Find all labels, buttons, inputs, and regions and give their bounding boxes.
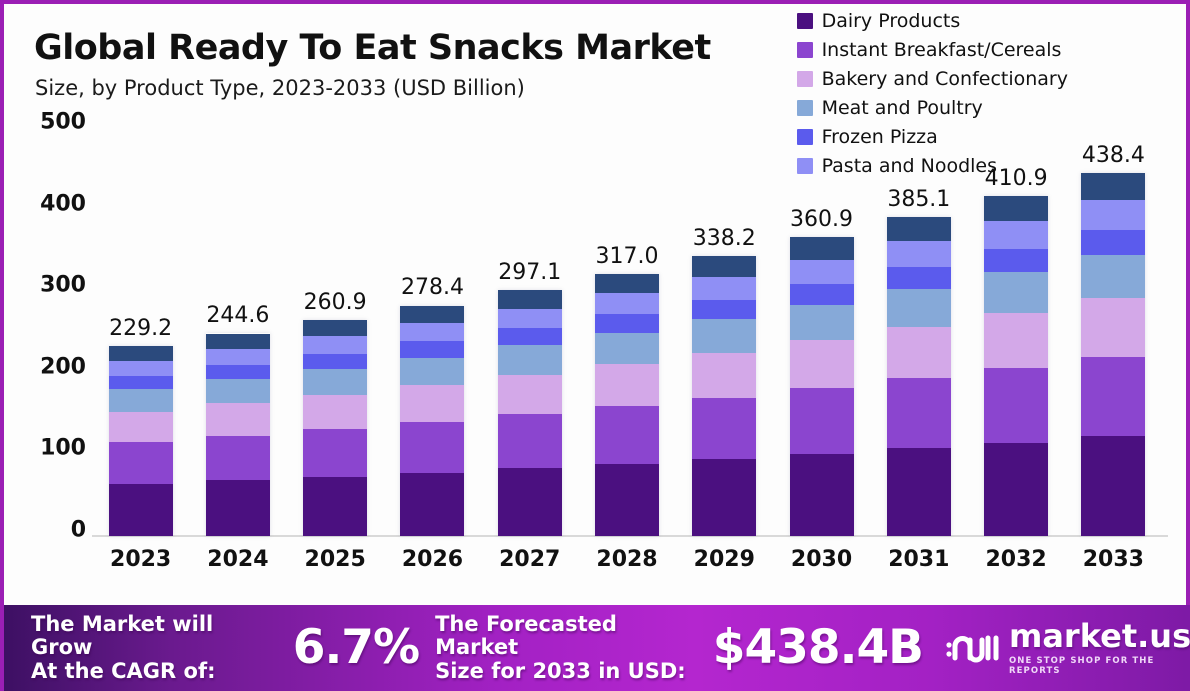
bar-group[interactable] (400, 122, 464, 536)
bar-value-label: 260.9 (304, 290, 367, 315)
bar-value-label: 278.4 (401, 275, 464, 300)
bar-segment[interactable] (400, 306, 464, 323)
bar-segment[interactable] (400, 385, 464, 422)
x-axis-tick: 2023 (110, 547, 171, 572)
bar-segment[interactable] (1081, 436, 1145, 536)
bar-segment[interactable] (303, 336, 367, 353)
bar-segment[interactable] (595, 274, 659, 294)
cagr-label-line1: The Market will Grow (31, 613, 267, 660)
bar-segment[interactable] (887, 448, 951, 536)
bar-value-label: 438.4 (1082, 143, 1145, 168)
bar-segment[interactable] (109, 346, 173, 360)
bar-segment[interactable] (692, 277, 756, 299)
bar-group[interactable] (303, 122, 367, 536)
bar-segment[interactable] (498, 345, 562, 375)
bar-segment[interactable] (109, 361, 173, 376)
y-axis-tick: 300 (40, 273, 86, 298)
bar-segment[interactable] (498, 328, 562, 345)
bar-segment[interactable] (400, 323, 464, 341)
bar-segment[interactable] (498, 309, 562, 329)
stacked-bar[interactable] (303, 320, 367, 536)
bar-segment[interactable] (303, 395, 367, 430)
bar-segment[interactable] (400, 358, 464, 386)
x-axis-tick: 2027 (499, 547, 560, 572)
legend-swatch-icon (797, 13, 813, 29)
bar-segment[interactable] (595, 406, 659, 464)
bar-segment[interactable] (109, 376, 173, 389)
bar-segment[interactable] (400, 473, 464, 536)
logo-tagline: ONE STOP SHOP FOR THE REPORTS (1009, 656, 1190, 676)
bar-segment[interactable] (206, 349, 270, 365)
bar-segment[interactable] (595, 364, 659, 406)
stacked-bar[interactable] (790, 237, 854, 536)
stacked-bar[interactable] (498, 290, 562, 536)
bar-segment[interactable] (498, 468, 562, 536)
bar-group[interactable] (790, 122, 854, 536)
y-axis-tick: 100 (40, 436, 86, 461)
y-axis-tick: 0 (71, 518, 86, 543)
legend-item-label: Meat and Poultry (822, 97, 983, 119)
legend-item[interactable]: Dairy Products (797, 6, 961, 35)
bar-value-label: 360.9 (790, 207, 853, 232)
stacked-bar[interactable] (887, 217, 951, 536)
bar-value-label: 385.1 (887, 187, 950, 212)
bar-value-label: 410.9 (985, 166, 1048, 191)
bar-segment[interactable] (887, 217, 951, 241)
x-axis-tick: 2026 (402, 547, 463, 572)
legend-swatch-icon (797, 42, 813, 58)
bar-segment[interactable] (984, 272, 1048, 313)
bar-segment[interactable] (303, 354, 367, 369)
bar-segment[interactable] (790, 284, 854, 305)
x-axis-tick: 2033 (1083, 547, 1144, 572)
page-subtitle: Size, by Product Type, 2023-2033 (USD Bi… (35, 76, 525, 100)
bar-segment[interactable] (790, 454, 854, 536)
legend-item-label: Bakery and Confectionary (822, 68, 1068, 90)
infographic-root: Global Ready To Eat Snacks Market Size, … (0, 0, 1190, 691)
bar-segment[interactable] (790, 237, 854, 260)
stacked-bar[interactable] (400, 306, 464, 537)
legend-item[interactable]: Instant Breakfast/Cereals (797, 35, 1062, 64)
logo-name: market.us (1009, 620, 1190, 652)
bar-segment[interactable] (206, 379, 270, 403)
legend-item-label: Dairy Products (822, 10, 961, 32)
bar-segment[interactable] (1081, 173, 1145, 200)
bar-segment[interactable] (790, 340, 854, 388)
stacked-bar[interactable] (206, 333, 270, 536)
legend-item-label: Instant Breakfast/Cereals (822, 39, 1062, 61)
legend-item[interactable]: Bakery and Confectionary (797, 64, 1068, 93)
bar-segment[interactable] (303, 477, 367, 536)
chart-plot-area: 229.2244.6260.9278.4297.1317.0338.2360.9… (92, 122, 1162, 536)
bar-segment[interactable] (400, 341, 464, 357)
bar-segment[interactable] (984, 443, 1048, 536)
logo-text-block: market.us ONE STOP SHOP FOR THE REPORTS (1009, 620, 1190, 676)
bar-segment[interactable] (303, 429, 367, 477)
bar-segment[interactable] (984, 249, 1048, 273)
bar-segment[interactable] (595, 293, 659, 314)
bar-segment[interactable] (206, 480, 270, 536)
bar-group[interactable] (498, 122, 562, 536)
bar-segment[interactable] (400, 422, 464, 473)
stacked-bar[interactable] (692, 256, 756, 536)
bar-segment[interactable] (206, 403, 270, 435)
bar-segment[interactable] (984, 368, 1048, 443)
bar-segment[interactable] (1081, 298, 1145, 356)
forecast-value: $438.4B (713, 622, 923, 675)
bar-segment[interactable] (984, 313, 1048, 367)
bar-segment[interactable] (595, 314, 659, 332)
stacked-bar[interactable] (109, 346, 173, 536)
bar-segment[interactable] (1081, 200, 1145, 229)
bar-value-label: 317.0 (596, 244, 659, 269)
cagr-value: 6.7% (293, 622, 419, 675)
bar-segment[interactable] (887, 327, 951, 378)
bar-segment[interactable] (692, 398, 756, 460)
x-axis-tick: 2025 (305, 547, 366, 572)
bar-segment[interactable] (206, 436, 270, 481)
bar-segment[interactable] (595, 333, 659, 364)
bar-segment[interactable] (692, 256, 756, 277)
bar-segment[interactable] (1081, 255, 1145, 299)
bar-value-label: 297.1 (498, 260, 561, 285)
bar-segment[interactable] (498, 290, 562, 308)
forecast-label-line1: The Forecasted Market (435, 613, 691, 660)
x-axis-tick: 2030 (791, 547, 852, 572)
bar-segment[interactable] (206, 365, 270, 379)
bar-segment[interactable] (498, 414, 562, 468)
bar-segment[interactable] (109, 442, 173, 484)
bar-value-label: 338.2 (693, 226, 756, 251)
x-axis-tick: 2024 (207, 547, 268, 572)
bar-segment[interactable] (692, 353, 756, 398)
page-title: Global Ready To Eat Snacks Market (34, 28, 711, 68)
bar-segment[interactable] (984, 221, 1048, 248)
legend-item[interactable]: Meat and Poultry (797, 93, 983, 122)
bar-segment[interactable] (109, 484, 173, 536)
bar-segment[interactable] (887, 378, 951, 448)
bar-segment[interactable] (1081, 230, 1145, 255)
y-axis-tick: 500 (40, 110, 86, 135)
x-axis-tick: 2028 (596, 547, 657, 572)
bar-segment[interactable] (498, 375, 562, 414)
bar-segment[interactable] (303, 369, 367, 395)
bar-value-label: 229.2 (109, 316, 172, 341)
bar-group[interactable] (1081, 122, 1145, 536)
legend-swatch-icon (797, 71, 813, 87)
y-axis: 0100200300400500 (16, 114, 86, 538)
bar-group[interactable] (595, 122, 659, 536)
bar-segment[interactable] (595, 464, 659, 536)
bar-segment[interactable] (790, 260, 854, 284)
bar-group[interactable] (692, 122, 756, 536)
bar-segment[interactable] (206, 334, 270, 349)
bar-segment[interactable] (692, 300, 756, 320)
legend-swatch-icon (797, 100, 813, 116)
bar-segment[interactable] (109, 412, 173, 442)
bar-group[interactable] (206, 122, 270, 536)
bar-value-label: 244.6 (206, 303, 269, 328)
bar-segment[interactable] (692, 319, 756, 353)
bar-segment[interactable] (887, 241, 951, 267)
y-axis-tick: 200 (40, 354, 86, 379)
stacked-bar[interactable] (595, 274, 659, 536)
bar-group[interactable] (887, 122, 951, 536)
bar-segment[interactable] (1081, 357, 1145, 437)
brand-logo[interactable]: market.us ONE STOP SHOP FOR THE REPORTS (945, 620, 1190, 676)
bar-segment[interactable] (887, 267, 951, 289)
bar-segment[interactable] (303, 320, 367, 336)
bar-segment[interactable] (109, 389, 173, 412)
forecast-label: The Forecasted Market Size for 2033 in U… (435, 613, 691, 684)
bar-segment[interactable] (790, 305, 854, 341)
bar-segment[interactable] (790, 388, 854, 454)
bar-segment[interactable] (692, 459, 756, 536)
cagr-label: The Market will Grow At the CAGR of: (31, 613, 267, 684)
y-axis-tick: 400 (40, 191, 86, 216)
x-axis-tick: 2031 (888, 547, 949, 572)
market-us-logo-icon (945, 628, 1001, 668)
footer-banner: The Market will Grow At the CAGR of: 6.7… (4, 605, 1190, 691)
bar-segment[interactable] (887, 289, 951, 327)
x-axis-tick: 2032 (985, 547, 1046, 572)
cagr-label-line2: At the CAGR of: (31, 660, 267, 684)
bar-segment[interactable] (984, 196, 1048, 222)
stacked-bar[interactable] (1081, 173, 1145, 536)
forecast-label-line2: Size for 2033 in USD: (435, 660, 691, 684)
stacked-bar[interactable] (984, 196, 1048, 536)
x-axis-tick: 2029 (694, 547, 755, 572)
